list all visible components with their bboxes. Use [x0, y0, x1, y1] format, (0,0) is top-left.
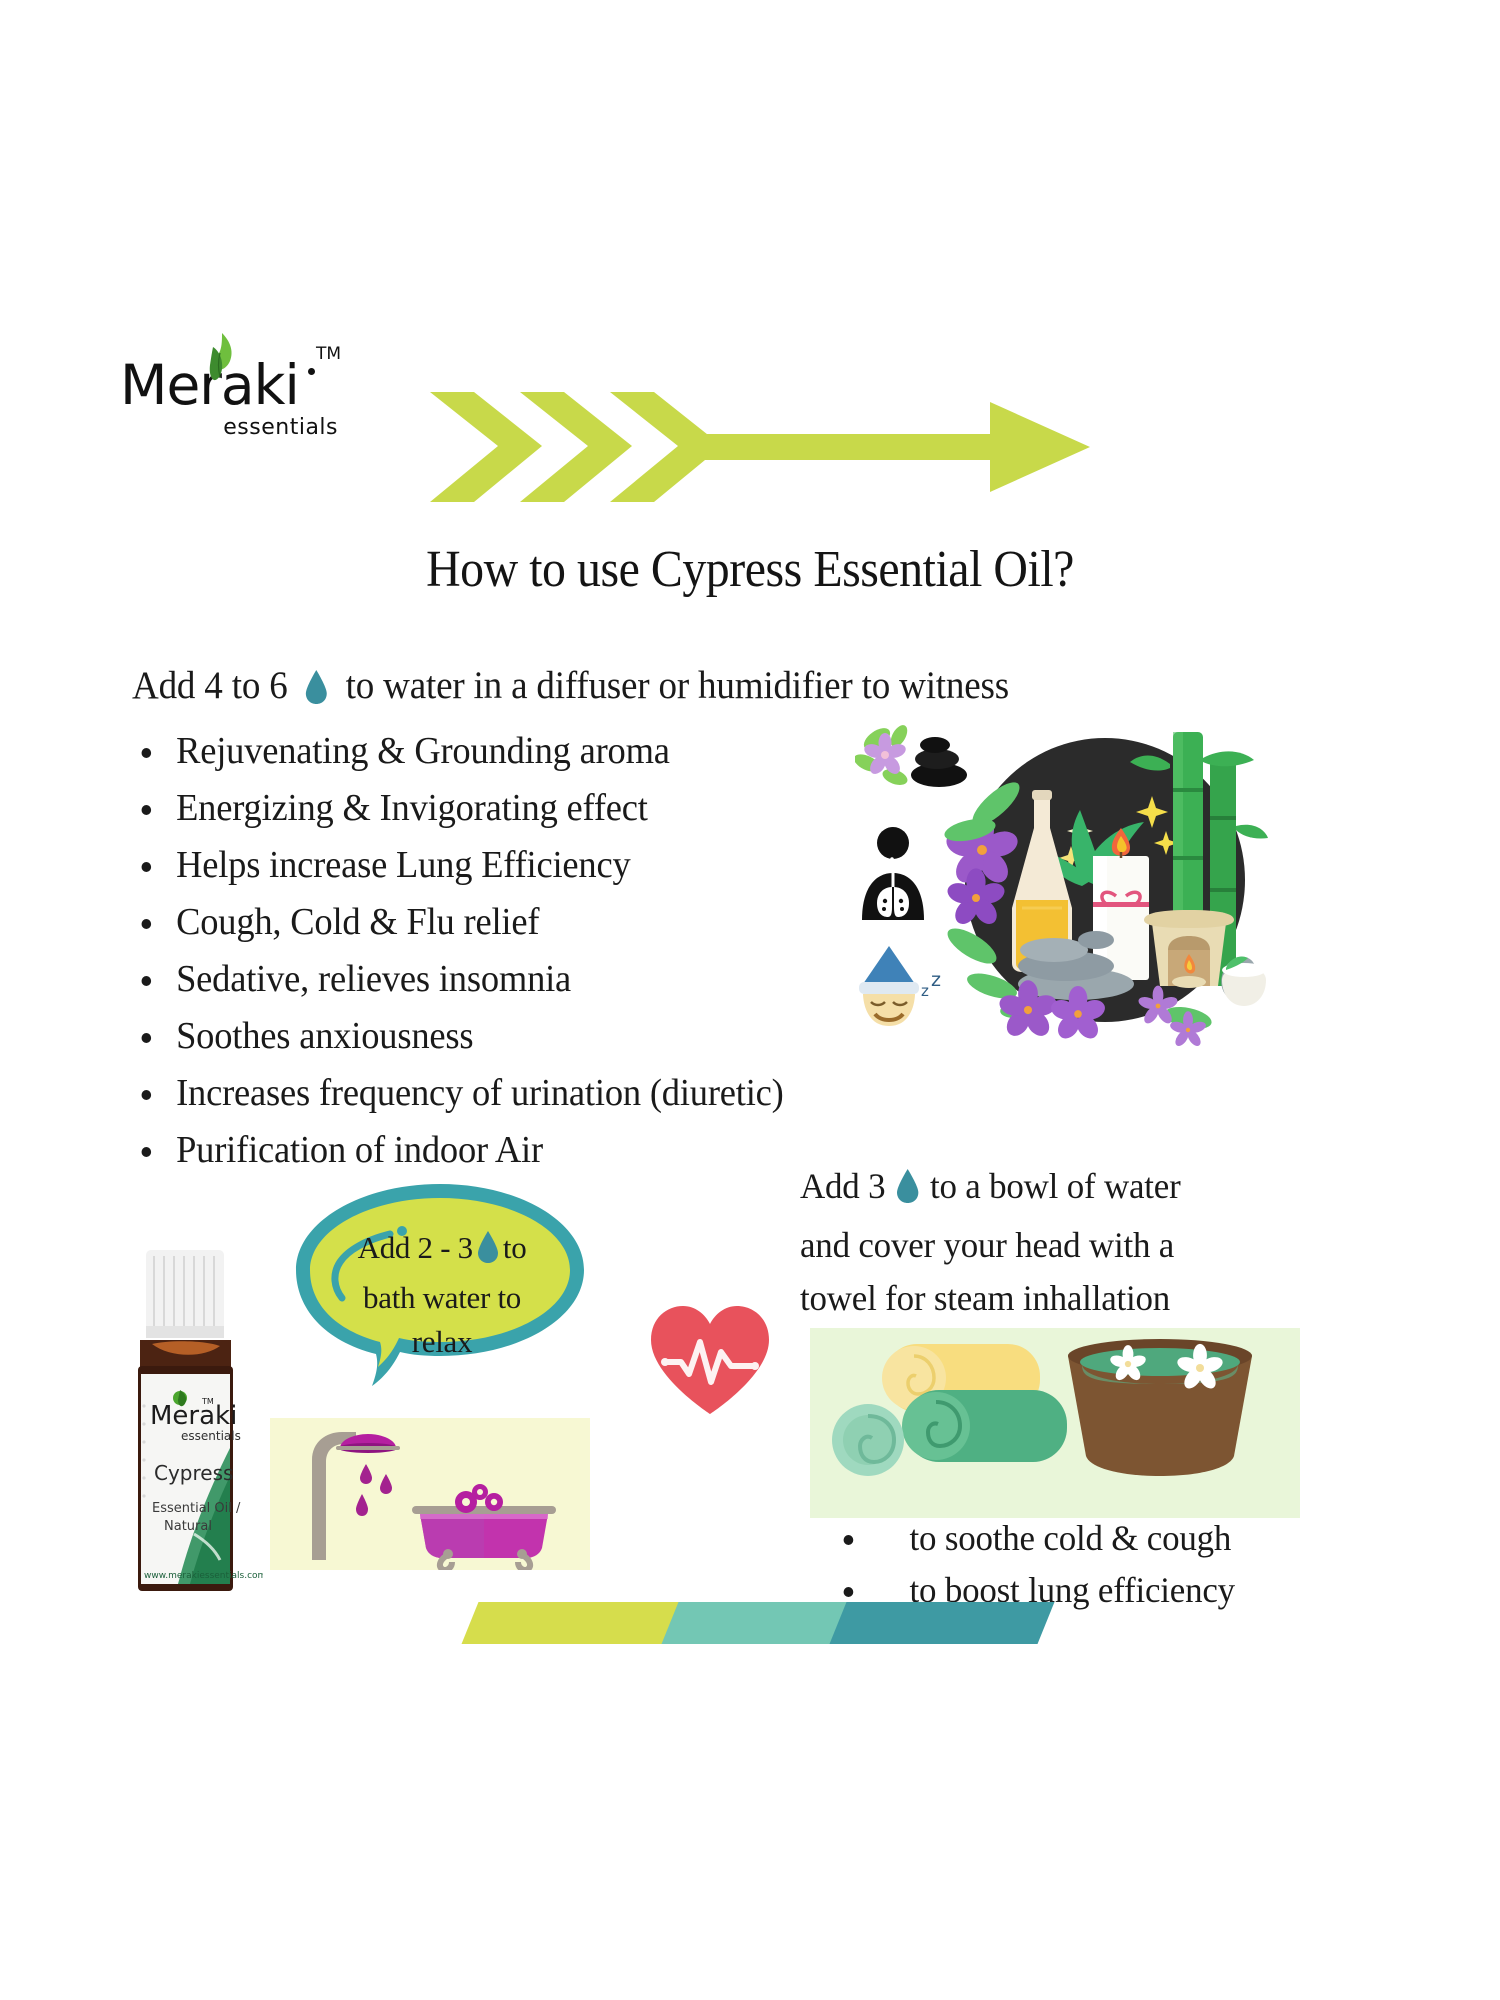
steam-line1-after: to a bowl of water	[930, 1166, 1181, 1206]
bottle-descriptor-1: Essential Oil /	[152, 1501, 241, 1516]
steam-illustration	[810, 1328, 1300, 1518]
list-item: to soothe cold & cough	[830, 1512, 1344, 1564]
droplet-icon	[476, 1230, 500, 1276]
svg-text:TM: TM	[201, 1397, 214, 1406]
steam-line2: and cover your head with a	[800, 1225, 1174, 1265]
bath-instruction-text: Add 2 - 3to bath water to relax	[316, 1226, 568, 1364]
diffuser-lead-before: Add 4 to 6	[132, 664, 288, 707]
diffuser-lead-after: to water in a diffuser or humidifier to …	[346, 664, 1009, 707]
header-arrow-graphic	[430, 388, 1350, 508]
page-title: How to use Cypress Essential Oil?	[60, 540, 1440, 599]
steam-line1-before: Add 3	[800, 1166, 885, 1206]
bottle-product: Cypress	[154, 1461, 233, 1485]
stripe-segment-1	[462, 1602, 681, 1644]
steam-benefits-list: to soothe cold & cough to boost lung eff…	[830, 1512, 1360, 1616]
bottle-descriptor-2: Natural	[164, 1519, 212, 1534]
heartbeat-icon	[645, 1300, 775, 1420]
stripe-segment-2	[662, 1602, 849, 1644]
bottle-website: www.merakiessentials.com	[144, 1571, 263, 1581]
bath-speech-bubble: Add 2 - 3to bath water to relax	[290, 1178, 590, 1393]
bath-line2: bath water to	[363, 1280, 521, 1315]
infographic-page: Meraki TM essentials How	[0, 0, 1500, 2000]
product-bottle-image: Meraki TM essentials Cypress Essential O…	[108, 1248, 263, 1593]
diffuser-lead-line: Add 4 to 6 to water in a diffuser or hum…	[132, 663, 1009, 715]
lungs-person-icon	[848, 825, 938, 920]
svg-text:z: z	[921, 982, 929, 1000]
bottle-tagline: essentials	[181, 1429, 241, 1443]
bath-line3: relax	[412, 1324, 472, 1359]
brand-wordmark: Meraki TM	[120, 358, 370, 413]
bath-illustration	[270, 1418, 590, 1570]
logo-dot	[308, 368, 315, 375]
brand-tagline: essentials	[120, 415, 338, 440]
brand-logo: Meraki TM essentials	[120, 358, 370, 448]
trademark-symbol: TM	[316, 346, 341, 363]
list-item: Increases frequency of urination (diuret…	[130, 1065, 1013, 1122]
bath-line1-before: Add 2 - 3	[358, 1230, 473, 1265]
bottom-decorative-stripe	[470, 1602, 1070, 1644]
droplet-icon	[895, 1166, 920, 1219]
bath-line1-after: to	[503, 1230, 527, 1265]
spa-circle-illustration	[930, 718, 1270, 1048]
steam-line3: towel for steam inhallation	[800, 1278, 1170, 1318]
bottle-brand: Meraki	[150, 1401, 237, 1431]
leaf-icon	[204, 331, 238, 383]
droplet-icon	[304, 669, 329, 715]
stripe-segment-3	[830, 1602, 1055, 1644]
steam-instruction-text: Add 3to a bowl of water and cover your h…	[800, 1160, 1343, 1325]
